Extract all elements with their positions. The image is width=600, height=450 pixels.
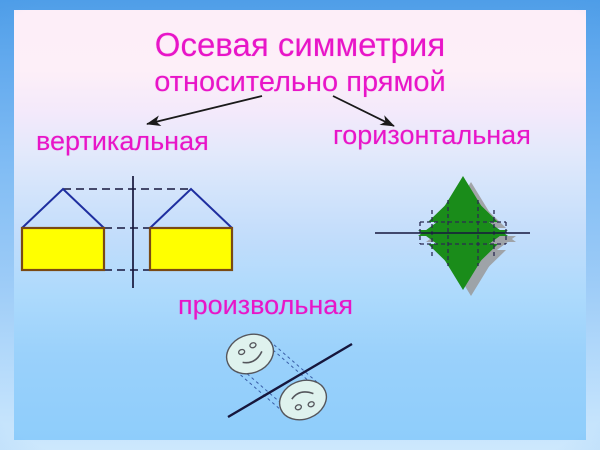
figure-houses-vertical-symmetry [22, 176, 232, 288]
slide-canvas: Осевая симметрия относительно прямой вер… [0, 0, 600, 450]
house-right-body [150, 228, 232, 270]
smiley-face-mirrored [274, 373, 333, 426]
figure-firs-horizontal-symmetry [375, 176, 530, 296]
arrow-to-vertical [147, 96, 262, 124]
smiley-mirrored-head [274, 373, 333, 426]
label-arbitrary-symmetry: произвольная [178, 290, 353, 321]
smiley-face-original [221, 327, 280, 380]
house-left [22, 189, 104, 270]
label-horizontal-symmetry: горизонтальная [333, 120, 531, 151]
figure-smileys-arbitrary-symmetry [221, 327, 352, 426]
house-left-body [22, 228, 104, 270]
page-title: Осевая симметрия [0, 26, 600, 64]
house-right [150, 189, 232, 270]
label-vertical-symmetry: вертикальная [36, 126, 209, 157]
fir-bottom-trunk [455, 222, 471, 234]
house-left-roof [22, 189, 104, 228]
page-subtitle: относительно прямой [0, 66, 600, 99]
house-right-roof [150, 189, 232, 228]
smiley-original-head [221, 327, 280, 380]
